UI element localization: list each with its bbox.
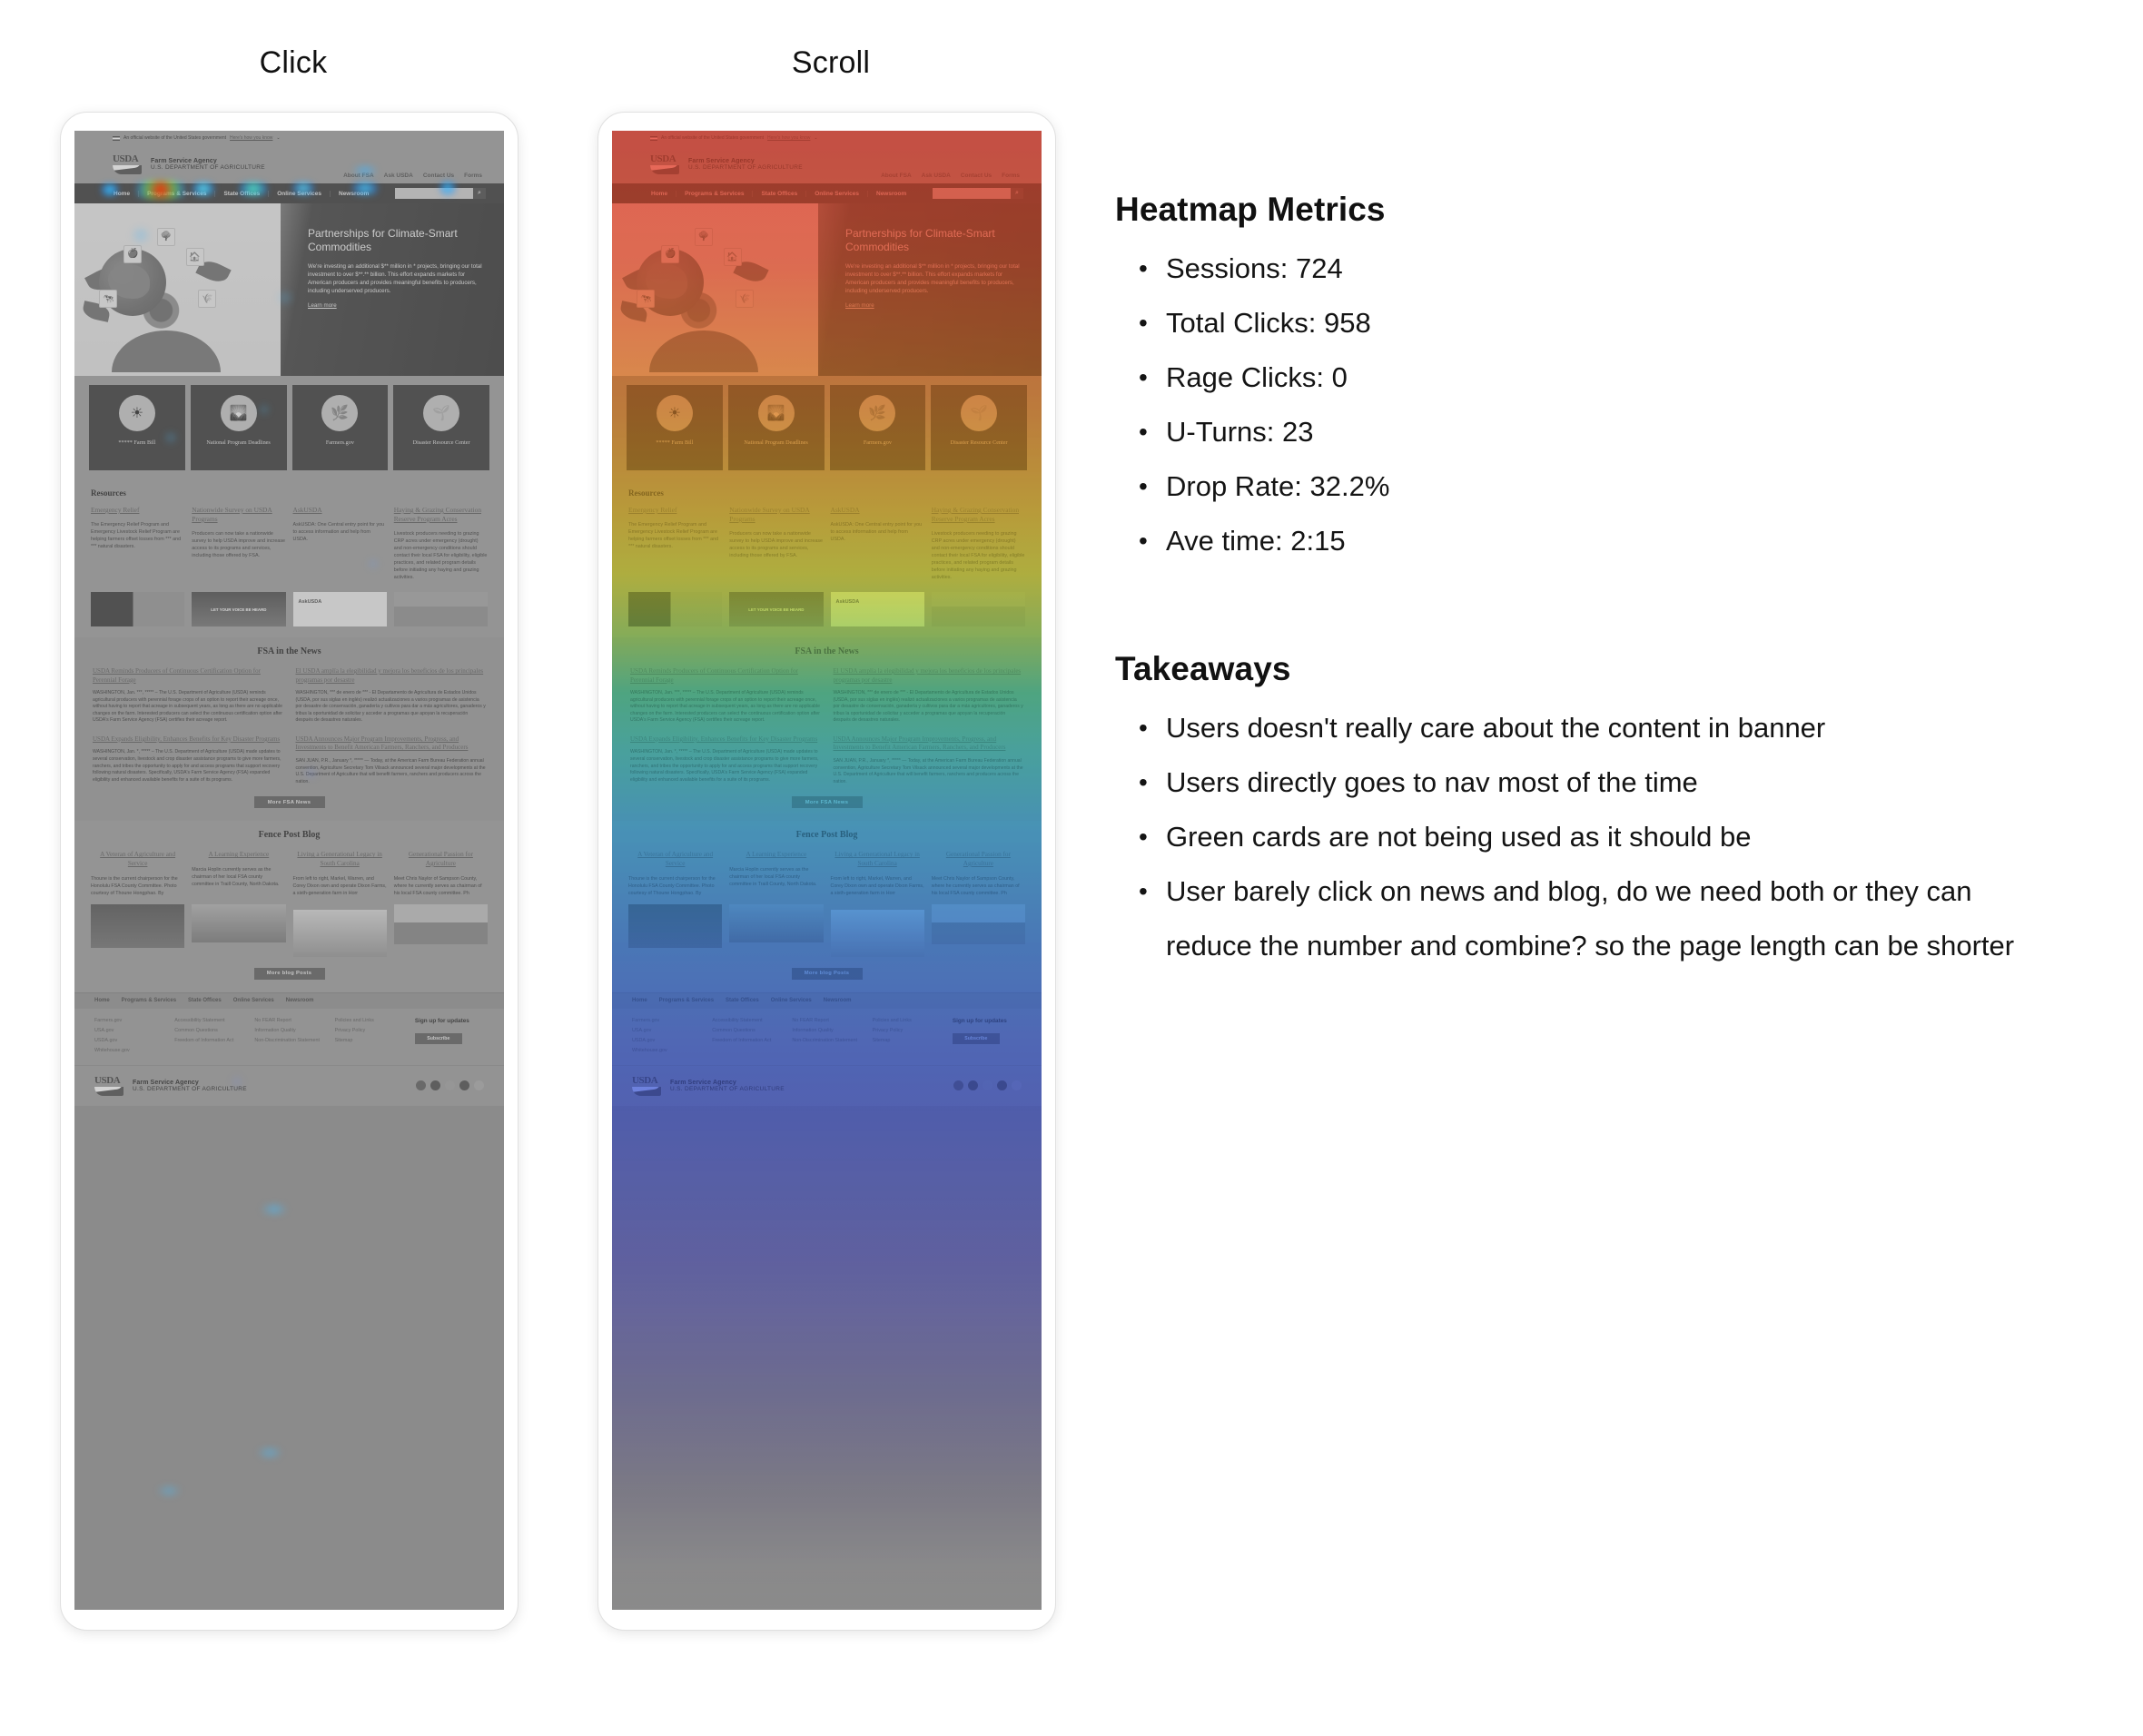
hero-copy: Partnerships for Climate-Smart Commoditi…	[308, 227, 489, 311]
chevron-down-icon: ⌄	[276, 135, 280, 141]
nav-item-home[interactable]: Home	[643, 191, 676, 197]
page-render-click: An official website of the United States…	[74, 131, 504, 1610]
footer-link[interactable]: Sitemap	[335, 1038, 404, 1044]
main-nav: Home Programs & Services State Offices O…	[74, 183, 504, 203]
card-farm-bill[interactable]: ☀ ***** Farm Bill	[89, 385, 185, 470]
takeaway-nav-usage: Users directly goes to nav most of the t…	[1115, 755, 2032, 810]
thumbnail-marcia-hoplin[interactable]	[192, 904, 285, 942]
news-item: USDA Announces Major Program Improvement…	[296, 735, 487, 785]
link-about-fsa[interactable]: About FSA	[343, 173, 374, 179]
footer-link[interactable]: USDA.gov	[632, 1038, 701, 1044]
resource-item: AskUSDA AskUSDA: One Central entry point…	[831, 506, 924, 581]
card-farm-bill[interactable]: ☀ ***** Farm Bill	[627, 385, 723, 470]
footer-link[interactable]: Accessibility Statement	[712, 1018, 781, 1024]
page-render-scroll: An official website of the United States…	[612, 131, 1042, 1610]
footer-column-1: Farmers.gov USA.gov USDA.gov Whitehouse.…	[94, 1018, 163, 1054]
blog-body: Meet Chris Naylor of Sampson County, whe…	[394, 875, 488, 897]
tree-icon: 🌳	[695, 228, 713, 246]
news-link[interactable]: USDA Expands Eligibility, Enhances Benef…	[630, 735, 821, 745]
card-label: Disaster Resource Center	[948, 439, 1011, 447]
news-body: SAN JUAN, P.R., January *, ***** — Today…	[296, 758, 487, 785]
farmers-gov-icon: 🌿	[859, 395, 895, 431]
wheat-icon: 🌾	[736, 290, 754, 308]
link-forms[interactable]: Forms	[464, 173, 482, 179]
card-disaster-resource-center[interactable]: 🌱 Disaster Resource Center	[931, 385, 1027, 470]
thumbnail-hawaiian-cane-juice[interactable]	[628, 904, 722, 948]
phone-mockup-scroll: An official website of the United States…	[597, 112, 1056, 1631]
more-blog-posts-button[interactable]: More blog Posts	[792, 968, 863, 980]
footer-link[interactable]: Information Quality	[792, 1028, 861, 1034]
nav-item-programs-services[interactable]: Programs & Services	[138, 191, 214, 197]
thumbnail-marcia-hoplin[interactable]	[729, 904, 823, 942]
blog-body: Thoune is the current chairperson for th…	[628, 875, 722, 897]
blog-item: A Learning Experience Marcia Hoplin curr…	[192, 851, 285, 896]
screen-click: An official website of the United States…	[74, 131, 504, 1610]
blog-heading: Fence Post Blog	[91, 830, 488, 840]
takeaway-news-and-blog: User barely click on news and blog, do w…	[1115, 864, 2032, 973]
footer-links: Farmers.gov USA.gov USDA.gov Whitehouse.…	[612, 1009, 1042, 1065]
sun-crops-icon: ☀	[657, 395, 693, 431]
footer-column-4: Policies and Links Privacy Policy Sitema…	[873, 1018, 942, 1054]
barn-icon: 🏠	[186, 248, 204, 266]
thumbnail-askusda[interactable]	[293, 592, 387, 626]
nav-item-online-services[interactable]: Online Services	[268, 191, 330, 197]
footer-link[interactable]: USDA.gov	[94, 1038, 163, 1044]
thumbnail-askusda[interactable]	[831, 592, 924, 626]
footer-link[interactable]: Freedom of Information Act	[174, 1038, 243, 1044]
facebook-icon[interactable]	[416, 1080, 426, 1090]
thumbnail-emergency-relief[interactable]	[628, 592, 722, 626]
resource-link[interactable]: Nationwide Survey on USDA Programs	[729, 506, 823, 524]
rss-icon[interactable]	[1012, 1080, 1022, 1090]
resource-link[interactable]: Haying & Grazing Conservation Reserve Pr…	[394, 506, 488, 524]
footer-link[interactable]: Whitehouse.gov	[94, 1048, 163, 1054]
tree-icon: 🌳	[157, 228, 175, 246]
footer-link[interactable]: Privacy Policy	[335, 1028, 404, 1034]
news-link[interactable]: USDA Expands Eligibility, Enhances Benef…	[93, 735, 283, 745]
blog-link[interactable]: Generational Passion for Agriculture	[932, 851, 1025, 868]
search-icon[interactable]: ⌕	[1011, 188, 1023, 199]
news-link[interactable]: El USDA amplía la elegibilidad y mejora …	[296, 667, 487, 685]
metric-total-clicks: Total Clicks: 958	[1115, 296, 2032, 350]
footer-link[interactable]: Non-Discrimination Statement	[792, 1038, 861, 1044]
news-item: USDA Expands Eligibility, Enhances Benef…	[630, 735, 821, 785]
news-item: El USDA amplía la elegibilidad y mejora …	[834, 667, 1024, 725]
news-section: FSA in the News USDA Reminds Producers o…	[74, 637, 504, 821]
nav-item-home[interactable]: Home	[105, 191, 138, 197]
usda-swoosh-icon	[113, 165, 142, 174]
thumbnail-grazing-field[interactable]	[932, 592, 1025, 626]
news-body: WASHINGTON, *** de enero de *** - El Dep…	[296, 690, 487, 725]
blog-item: Living a Generational Legacy in South Ca…	[831, 851, 924, 896]
us-flag-icon	[650, 136, 657, 141]
nav-item-state-offices[interactable]: State Offices	[214, 191, 268, 197]
twitter-icon[interactable]	[983, 1080, 992, 1090]
thumbnail-dixon-farms[interactable]	[293, 910, 387, 957]
footer-nav-online-services[interactable]: Online Services	[771, 998, 812, 1003]
resource-link[interactable]: Nationwide Survey on USDA Programs	[192, 506, 285, 524]
blog-thumbnails	[628, 904, 1025, 957]
news-item: USDA Reminds Producers of Continuous Cer…	[630, 667, 821, 725]
utility-links: About FSA Ask USDA Contact Us Forms	[343, 173, 482, 179]
department-name: U.S. DEPARTMENT OF AGRICULTURE	[151, 164, 265, 171]
cow-icon: 🐄	[637, 290, 655, 308]
footer-column-2: Accessibility Statement Common Questions…	[174, 1018, 243, 1054]
blog-thumbnails	[91, 904, 488, 957]
footer-department: U.S. DEPARTMENT OF AGRICULTURE	[670, 1086, 785, 1092]
blog-item: A Veteran of Agriculture and Service Tho…	[628, 851, 722, 896]
usda-logo-footer: USDA	[632, 1075, 663, 1097]
news-item: El USDA amplía la elegibilidad y mejora …	[296, 667, 487, 725]
blog-link[interactable]: A Learning Experience	[729, 851, 823, 860]
nav-item-programs-services[interactable]: Programs & Services	[676, 191, 752, 197]
youtube-icon[interactable]	[430, 1080, 440, 1090]
footer-nav-home[interactable]: Home	[94, 998, 110, 1003]
resource-item: Haying & Grazing Conservation Reserve Pr…	[394, 506, 488, 581]
blog-body: Marcia Hoplin currently serves as the ch…	[192, 866, 285, 888]
facebook-icon[interactable]	[953, 1080, 963, 1090]
usda-logo: USDA	[113, 153, 143, 175]
news-item: USDA Expands Eligibility, Enhances Benef…	[93, 735, 283, 785]
card-national-program-deadlines[interactable]: 🌄 National Program Deadlines	[728, 385, 825, 470]
chevron-down-icon: ⌄	[814, 135, 817, 141]
news-body: WASHINGTON, Jan. ***, ***** – The U.S. D…	[93, 690, 283, 725]
brand-text: Farm Service Agency U.S. DEPARTMENT OF A…	[688, 158, 803, 171]
footer-links: Farmers.gov USA.gov USDA.gov Whitehouse.…	[74, 1009, 504, 1065]
gov-banner-link[interactable]: Here's how you know	[767, 135, 810, 141]
footer-link[interactable]: Non-Discrimination Statement	[254, 1038, 323, 1044]
footer-column-3: No FEAR Report Information Quality Non-D…	[254, 1018, 323, 1054]
brand-bar: USDA Farm Service Agency U.S. DEPARTMENT…	[74, 145, 504, 183]
card-label: ***** Farm Bill	[115, 439, 158, 447]
card-label: Farmers.gov	[323, 439, 357, 447]
footer-link[interactable]: Policies and Links	[335, 1018, 404, 1024]
utility-links: About FSA Ask USDA Contact Us Forms	[881, 173, 1020, 179]
news-link[interactable]: USDA Reminds Producers of Continuous Cer…	[93, 667, 283, 685]
link-ask-usda[interactable]: Ask USDA	[922, 173, 951, 179]
search-input[interactable]	[395, 188, 473, 199]
footer-column-3: No FEAR Report Information Quality Non-D…	[792, 1018, 861, 1054]
usda-swoosh-icon	[650, 165, 679, 174]
brand-text: Farm Service Agency U.S. DEPARTMENT OF A…	[151, 158, 265, 171]
link-contact-us[interactable]: Contact Us	[961, 173, 992, 179]
blog-link[interactable]: A Veteran of Agriculture and Service	[91, 851, 184, 868]
hands-icon	[112, 330, 221, 372]
sprout-hand-icon: 🌱	[423, 395, 459, 431]
signup-heading: Sign up for updates	[415, 1018, 484, 1024]
blog-item: Generational Passion for Agriculture Mee…	[932, 851, 1025, 896]
twitter-icon[interactable]	[445, 1080, 455, 1090]
thumbnail-let-your-voice-be-heard[interactable]	[729, 592, 823, 626]
rss-icon[interactable]	[474, 1080, 484, 1090]
social-links	[953, 1080, 1022, 1090]
news-link[interactable]: El USDA amplía la elegibilidad y mejora …	[834, 667, 1024, 685]
resource-link[interactable]: Haying & Grazing Conservation Reserve Pr…	[932, 506, 1025, 524]
department-name: U.S. DEPARTMENT OF AGRICULTURE	[688, 164, 803, 171]
nav-item-online-services[interactable]: Online Services	[805, 191, 867, 197]
news-item: USDA Reminds Producers of Continuous Cer…	[93, 667, 283, 725]
metrics-list: Sessions: 724 Total Clicks: 958 Rage Cli…	[1115, 242, 2032, 568]
usda-swoosh-icon	[632, 1087, 661, 1096]
resource-body: Livestock producers needing to grazing C…	[394, 530, 488, 581]
footer-nav-newsroom[interactable]: Newsroom	[824, 998, 852, 1003]
footer-nav: Home Programs & Services State Offices O…	[612, 992, 1042, 1009]
blog-body: Meet Chris Naylor of Sampson County, whe…	[932, 875, 1025, 897]
slide-canvas: Click Scroll An official website of the …	[0, 0, 2143, 1736]
footer-link[interactable]: Information Quality	[254, 1028, 323, 1034]
resource-body: The Emergency Relief Program and Emergen…	[628, 521, 722, 550]
subscribe-button[interactable]: Subscribe	[953, 1033, 1000, 1044]
takeaway-banner-content: Users doesn't really care about the cont…	[1115, 701, 2032, 755]
quick-link-cards: ☀ ***** Farm Bill 🌄 National Program Dea…	[612, 376, 1042, 483]
resources-section: Resources Emergency Relief The Emergency…	[74, 483, 504, 637]
metric-rage-clicks: Rage Clicks: 0	[1115, 350, 2032, 405]
hero-body: We're investing an additional $** millio…	[308, 262, 489, 295]
resource-thumbnails	[91, 592, 488, 626]
resource-body: AskUSDA: One Central entry point for you…	[293, 521, 387, 543]
news-body: SAN JUAN, P.R., January *, ***** — Today…	[834, 758, 1024, 785]
card-label: National Program Deadlines	[741, 439, 810, 447]
gov-banner-text: An official website of the United States…	[661, 135, 764, 141]
resource-body: Producers can now take a nationwide surv…	[192, 530, 285, 559]
news-heading: FSA in the News	[93, 646, 486, 656]
footer-signup: Sign up for updates Subscribe	[415, 1018, 484, 1054]
hero-copy: Partnerships for Climate-Smart Commoditi…	[845, 227, 1027, 311]
footer-agency: Farm Service Agency	[133, 1080, 247, 1086]
hero-title: Partnerships for Climate-Smart Commoditi…	[845, 227, 1027, 254]
gov-banner-link[interactable]: Here's how you know	[230, 135, 272, 141]
thumbnail-hawaiian-cane-juice[interactable]	[91, 904, 184, 948]
card-farmers-gov[interactable]: 🌿 Farmers.gov	[292, 385, 389, 470]
hero-illustration: 🍎 🌳 🏠 🐄 🌾	[74, 203, 281, 376]
footer-link[interactable]: Common Questions	[712, 1028, 781, 1034]
footer-link[interactable]: Accessibility Statement	[174, 1018, 243, 1024]
thumbnail-dixon-farms[interactable]	[831, 910, 924, 957]
panel-title-click: Click	[153, 45, 434, 81]
takeaways-heading: Takeaways	[1115, 650, 2032, 688]
news-heading: FSA in the News	[630, 646, 1023, 656]
nav-item-newsroom[interactable]: Newsroom	[330, 191, 377, 197]
blog-item: A Veteran of Agriculture and Service Tho…	[91, 851, 184, 896]
card-national-program-deadlines[interactable]: 🌄 National Program Deadlines	[191, 385, 287, 470]
card-label: Disaster Resource Center	[410, 439, 473, 447]
agency-name: Farm Service Agency	[151, 158, 265, 164]
metric-drop-rate: Drop Rate: 32.2%	[1115, 459, 2032, 514]
hands-icon	[649, 330, 758, 372]
resource-body: Producers can now take a nationwide surv…	[729, 530, 823, 559]
blog-section: Fence Post Blog A Veteran of Agriculture…	[74, 821, 504, 991]
footer-link[interactable]: Farmers.gov	[94, 1018, 163, 1024]
footer-agency: Farm Service Agency	[670, 1080, 785, 1086]
wheat-icon: 🌾	[198, 290, 216, 308]
footer-nav-state-offices[interactable]: State Offices	[726, 998, 759, 1003]
youtube-icon[interactable]	[968, 1080, 978, 1090]
fruit-icon: 🍎	[661, 245, 679, 263]
card-label: Farmers.gov	[861, 439, 894, 447]
footer-nav-programs-services[interactable]: Programs & Services	[659, 998, 714, 1003]
screen-scroll: An official website of the United States…	[612, 131, 1042, 1610]
resource-body: AskUSDA: One Central entry point for you…	[831, 521, 924, 543]
news-link[interactable]: USDA Reminds Producers of Continuous Cer…	[630, 667, 821, 685]
search-icon[interactable]: ⌕	[473, 188, 486, 199]
blog-body: From left to right, Markel, Warren, and …	[293, 875, 387, 897]
blog-item: Generational Passion for Agriculture Mee…	[394, 851, 488, 896]
field-sun-icon: 🌄	[221, 395, 257, 431]
nav-search: ⌕	[395, 188, 486, 199]
hero-banner: 🍎 🌳 🏠 🐄 🌾 Partnerships for Climate-Smart…	[612, 203, 1042, 376]
card-disaster-resource-center[interactable]: 🌱 Disaster Resource Center	[393, 385, 489, 470]
nav-item-newsroom[interactable]: Newsroom	[867, 191, 914, 197]
usda-logo-footer: USDA	[94, 1075, 125, 1097]
blog-heading: Fence Post Blog	[628, 830, 1025, 840]
gov-banner-text: An official website of the United States…	[123, 135, 226, 141]
sun-crops-icon: ☀	[119, 395, 155, 431]
link-ask-usda[interactable]: Ask USDA	[384, 173, 413, 179]
usda-swoosh-icon	[94, 1087, 123, 1096]
footer-nav-home[interactable]: Home	[632, 998, 647, 1003]
resource-item: Haying & Grazing Conservation Reserve Pr…	[932, 506, 1025, 581]
footer-nav-state-offices[interactable]: State Offices	[188, 998, 222, 1003]
resources-heading: Resources	[628, 488, 1025, 498]
link-forms[interactable]: Forms	[1002, 173, 1020, 179]
resource-thumbnails	[628, 592, 1025, 626]
blog-item: A Learning Experience Marcia Hoplin curr…	[729, 851, 823, 896]
news-link[interactable]: USDA Announces Major Program Improvement…	[834, 735, 1024, 753]
resources-section: Resources Emergency Relief The Emergency…	[612, 483, 1042, 637]
subscribe-button[interactable]: Subscribe	[415, 1033, 462, 1044]
footer-link[interactable]: Sitemap	[873, 1038, 942, 1044]
news-item: USDA Announces Major Program Improvement…	[834, 735, 1024, 785]
social-links	[416, 1080, 484, 1090]
card-label: National Program Deadlines	[203, 439, 272, 447]
blog-body: Thoune is the current chairperson for th…	[91, 875, 184, 897]
nav-search: ⌕	[933, 188, 1023, 199]
resource-item: Emergency Relief The Emergency Relief Pr…	[628, 506, 722, 581]
blog-link[interactable]: Generational Passion for Agriculture	[394, 851, 488, 868]
footer-link[interactable]: Privacy Policy	[873, 1028, 942, 1034]
footer-column-4: Policies and Links Privacy Policy Sitema…	[335, 1018, 404, 1054]
footer-column-2: Accessibility Statement Common Questions…	[712, 1018, 781, 1054]
news-link[interactable]: USDA Announces Major Program Improvement…	[296, 735, 487, 753]
news-body: WASHINGTON, *** de enero de *** - El Dep…	[834, 690, 1024, 725]
hero-cta-link[interactable]: Learn more	[845, 302, 874, 309]
main-nav: Home Programs & Services State Offices O…	[612, 183, 1042, 203]
footer-link[interactable]: Freedom of Information Act	[712, 1038, 781, 1044]
footer-bottom: USDA Farm Service Agency U.S. DEPARTMENT…	[74, 1065, 504, 1106]
more-blog-posts-button[interactable]: More blog Posts	[254, 968, 325, 980]
hero-body: We're investing an additional $** millio…	[845, 262, 1027, 295]
thumbnail-grazing-field[interactable]	[394, 592, 488, 626]
thumbnail-emergency-relief[interactable]	[91, 592, 184, 626]
hero-cta-link[interactable]: Learn more	[308, 302, 337, 309]
sprout-hand-icon: 🌱	[961, 395, 997, 431]
footer-nav: Home Programs & Services State Offices O…	[74, 992, 504, 1009]
blog-body: Marcia Hoplin currently serves as the ch…	[729, 866, 823, 888]
link-contact-us[interactable]: Contact Us	[423, 173, 454, 179]
resources-heading: Resources	[91, 488, 488, 498]
analysis-panel: Heatmap Metrics Sessions: 724 Total Clic…	[1115, 191, 2032, 973]
thumbnail-let-your-voice-be-heard[interactable]	[192, 592, 285, 626]
hero-illustration: 🍎 🌳 🏠 🐄 🌾	[612, 203, 818, 376]
resource-item: Nationwide Survey on USDA Programs Produ…	[729, 506, 823, 581]
news-section: FSA in the News USDA Reminds Producers o…	[612, 637, 1042, 821]
blog-item: Living a Generational Legacy in South Ca…	[293, 851, 387, 896]
quick-link-cards: ☀ ***** Farm Bill 🌄 National Program Dea…	[74, 376, 504, 483]
footer-signup: Sign up for updates Subscribe	[953, 1018, 1022, 1054]
news-body: WASHINGTON, Jan. ***, ***** – The U.S. D…	[630, 690, 821, 725]
news-body: WASHINGTON, Jan. *, ***** – The U.S. Dep…	[93, 749, 283, 784]
footer-link[interactable]: Farmers.gov	[632, 1018, 701, 1024]
card-farmers-gov[interactable]: 🌿 Farmers.gov	[830, 385, 926, 470]
flickr-icon[interactable]	[997, 1080, 1007, 1090]
footer-nav-newsroom[interactable]: Newsroom	[286, 998, 314, 1003]
blog-body: From left to right, Markel, Warren, and …	[831, 875, 924, 897]
farmers-gov-icon: 🌿	[321, 395, 358, 431]
cow-icon: 🐄	[99, 290, 117, 308]
metric-u-turns: U-Turns: 23	[1115, 405, 2032, 459]
us-flag-icon	[113, 136, 120, 141]
usda-logo: USDA	[650, 153, 681, 175]
phone-mockup-click: An official website of the United States…	[60, 112, 518, 1631]
footer-link[interactable]: No FEAR Report	[792, 1018, 861, 1024]
thumbnail-chris-naylor[interactable]	[932, 904, 1025, 944]
flickr-icon[interactable]	[459, 1080, 469, 1090]
blog-link[interactable]: Living a Generational Legacy in South Ca…	[293, 851, 387, 868]
footer-bottom: USDA Farm Service Agency U.S. DEPARTMENT…	[612, 1065, 1042, 1106]
news-body: WASHINGTON, Jan. *, ***** – The U.S. Dep…	[630, 749, 821, 784]
fruit-icon: 🍎	[123, 245, 142, 263]
link-about-fsa[interactable]: About FSA	[881, 173, 912, 179]
resource-link[interactable]: AskUSDA	[293, 506, 387, 515]
more-fsa-news-button[interactable]: More FSA News	[792, 796, 863, 808]
blog-link[interactable]: Living a Generational Legacy in South Ca…	[831, 851, 924, 868]
resource-link[interactable]: Emergency Relief	[91, 506, 184, 515]
takeaways-list: Users doesn't really care about the cont…	[1115, 701, 2032, 973]
agency-name: Farm Service Agency	[688, 158, 803, 164]
footer-nav-online-services[interactable]: Online Services	[233, 998, 274, 1003]
blog-link[interactable]: A Learning Experience	[192, 851, 285, 860]
footer-nav-programs-services[interactable]: Programs & Services	[122, 998, 176, 1003]
footer-link[interactable]: Common Questions	[174, 1028, 243, 1034]
footer-department: U.S. DEPARTMENT OF AGRICULTURE	[133, 1086, 247, 1092]
footer-link[interactable]: No FEAR Report	[254, 1018, 323, 1024]
resource-body: The Emergency Relief Program and Emergen…	[91, 521, 184, 550]
resource-link[interactable]: AskUSDA	[831, 506, 924, 515]
brand-bar: USDA Farm Service Agency U.S. DEPARTMENT…	[612, 145, 1042, 183]
resource-body: Livestock producers needing to grazing C…	[932, 530, 1025, 581]
takeaways-block: Takeaways Users doesn't really care abou…	[1115, 650, 2032, 973]
footer-link[interactable]: USA.gov	[632, 1028, 701, 1034]
resource-item: Emergency Relief The Emergency Relief Pr…	[91, 506, 184, 581]
footer-link[interactable]: Whitehouse.gov	[632, 1048, 701, 1054]
footer-link[interactable]: Policies and Links	[873, 1018, 942, 1024]
more-fsa-news-button[interactable]: More FSA News	[254, 796, 325, 808]
metric-ave-time: Ave time: 2:15	[1115, 514, 2032, 568]
search-input[interactable]	[933, 188, 1011, 199]
nav-item-state-offices[interactable]: State Offices	[752, 191, 805, 197]
metrics-heading: Heatmap Metrics	[1115, 191, 2032, 229]
thumbnail-chris-naylor[interactable]	[394, 904, 488, 944]
resource-item: AskUSDA AskUSDA: One Central entry point…	[293, 506, 387, 581]
panel-title-scroll: Scroll	[690, 45, 972, 81]
card-label: ***** Farm Bill	[653, 439, 696, 447]
hero-banner: 🍎 🌳 🏠 🐄 🌾 Partnerships for Climate-Smart…	[74, 203, 504, 376]
blog-section: Fence Post Blog A Veteran of Agriculture…	[612, 821, 1042, 991]
resource-link[interactable]: Emergency Relief	[628, 506, 722, 515]
blog-link[interactable]: A Veteran of Agriculture and Service	[628, 851, 722, 868]
barn-icon: 🏠	[724, 248, 742, 266]
footer-link[interactable]: USA.gov	[94, 1028, 163, 1034]
